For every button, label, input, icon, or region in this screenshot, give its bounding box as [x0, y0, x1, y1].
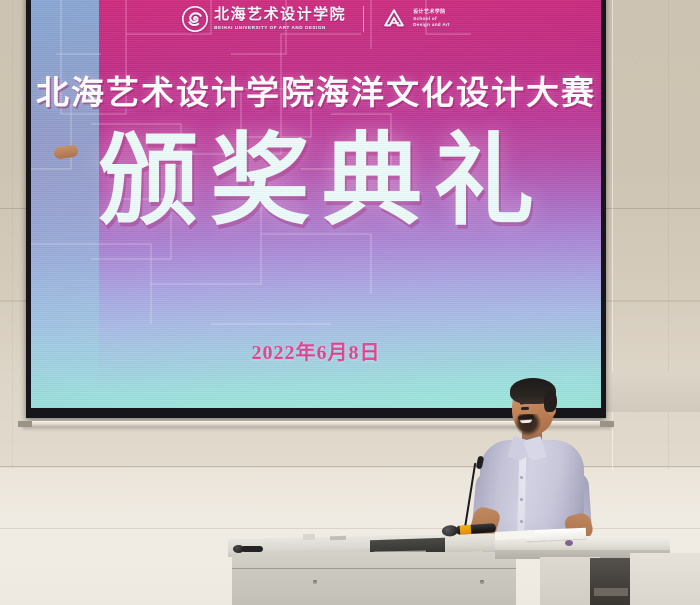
- projection-screen-surface: 北海艺术设计学院 BEIHAI UNIVERSITY OF ART AND DE…: [31, 0, 601, 408]
- logo-school-cn: 设计艺术学院: [413, 9, 450, 16]
- photo-scene: 北海艺术设计学院 BEIHAI UNIVERSITY OF ART AND DE…: [0, 0, 700, 605]
- logo-beihai-en: BEIHAI UNIVERSITY OF ART AND DESIGN: [214, 25, 346, 31]
- slide-content: 北海艺术设计学院 BEIHAI UNIVERSITY OF ART AND DE…: [31, 0, 601, 408]
- microphone-head: [233, 545, 244, 553]
- logo-beihai-university: 北海艺术设计学院 BEIHAI UNIVERSITY OF ART AND DE…: [182, 6, 346, 32]
- shirt-button: [520, 476, 523, 479]
- slide-date: 2022年6月8日: [31, 336, 601, 365]
- microphone-body: [241, 546, 263, 552]
- desk-screw: [480, 580, 484, 584]
- logo-beihai-cn: 北海艺术设计学院: [214, 8, 346, 24]
- console-desk-body: [232, 552, 516, 605]
- slide-headline: 颁奖典礼: [31, 127, 601, 237]
- desk-small-object: [330, 536, 346, 541]
- logo-school-en-line2: Design and Art: [413, 22, 450, 28]
- slide-title: 北海艺术设计学院海洋文化设计大赛: [31, 66, 601, 114]
- desk-small-object: [303, 534, 315, 541]
- beihai-university-swirl-icon: [182, 6, 208, 32]
- microphone-color-band: [460, 525, 472, 535]
- logo-school-text: 设计艺术学院 School of Design and Art: [413, 9, 450, 28]
- console-desk-seam: [232, 568, 516, 569]
- logo-divider: [363, 6, 364, 32]
- speaker-eye: [521, 407, 529, 411]
- podium-cavity-shelf: [594, 588, 628, 596]
- podium-small-object: [565, 540, 573, 546]
- shirt-button: [520, 498, 523, 501]
- speaker-hair-side: [544, 390, 557, 412]
- shirt-button: [520, 520, 523, 523]
- microphone-head: [442, 525, 459, 537]
- podium-cavity: [590, 558, 632, 605]
- logo-beihai-text: 北海艺术设计学院 BEIHAI UNIVERSITY OF ART AND DE…: [214, 8, 346, 30]
- podium-right-section: [630, 553, 700, 605]
- desk-screw: [313, 580, 317, 584]
- school-of-design-and-art-icon: [381, 7, 407, 31]
- wall-vertical-seam: [12, 0, 13, 470]
- slide-logo-bar: 北海艺术设计学院 BEIHAI UNIVERSITY OF ART AND DE…: [31, 6, 601, 32]
- logo-school-of-design: 设计艺术学院 School of Design and Art: [381, 7, 450, 31]
- rail-end-cap-left: [18, 421, 32, 427]
- handheld-microphone-secondary: [233, 546, 263, 554]
